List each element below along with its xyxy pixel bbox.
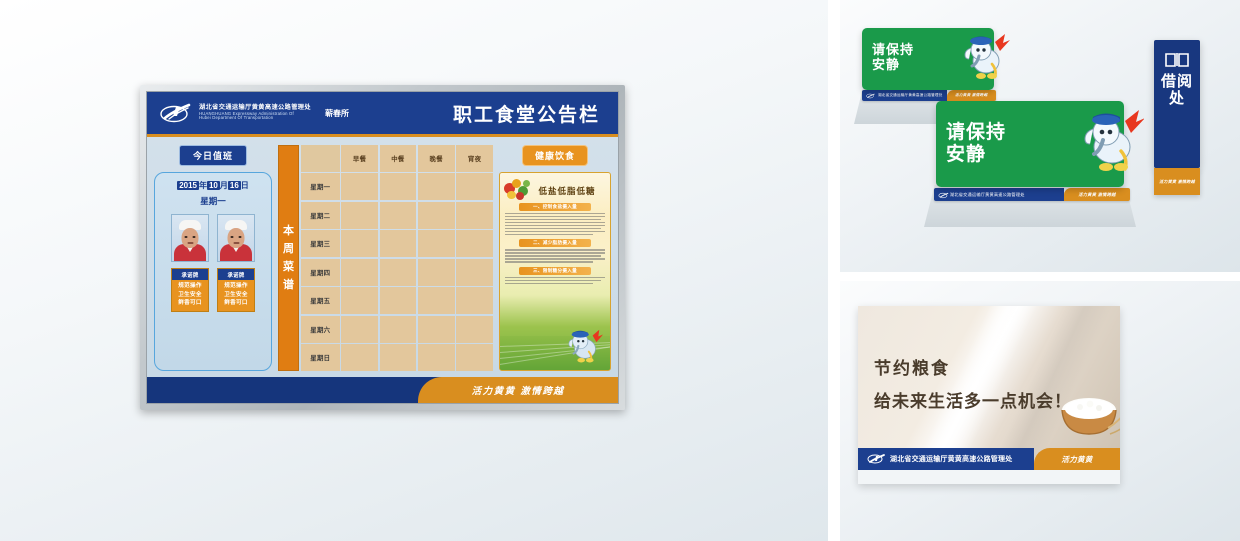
promise-cards: 承诺牌 规范操作 卫生安全 鲜香可口 承诺牌 (171, 268, 255, 312)
date-year-unit: 年 (199, 181, 207, 190)
section-heading-1: 一、控制食盐摄入量 (519, 203, 591, 211)
menu-cell[interactable] (341, 344, 378, 371)
poster-org-name: 湖北省交通运输厅黄黄高速公路管理处 (890, 454, 1012, 464)
table-corner-cell (301, 145, 340, 172)
section-heading-3: 三、限制糖分摄入量 (519, 267, 591, 275)
menu-cell[interactable] (341, 202, 378, 229)
duty-staff-photos (171, 214, 255, 262)
board-slogan: 活力黄黄 激情跨越 (472, 383, 565, 397)
poster-headline-line1: 节约粮食 (874, 354, 1072, 379)
expressway-logo-icon (159, 102, 193, 124)
expressway-logo-icon (938, 192, 947, 198)
healthy-eating-card: 低盐低脂低糖 一、控制食盐摄入量 二、减少脂肪摄入量 (499, 172, 611, 371)
date-day: 16 (228, 181, 241, 190)
borrow-desk-sign: 借阅处 (1154, 40, 1200, 168)
poster-panel: 节约粮食 给未来生活多一点机会！ 湖北省交通运输厅黄黄高速公路管理处 (840, 281, 1240, 541)
side-label-char: 本 (283, 226, 294, 237)
board-inner: 湖北省交通运输厅黄黄高速公路管理处 HUANGHUANG Expressway … (146, 91, 619, 404)
quiet-line-2: 安静 (872, 59, 914, 74)
row-header-friday: 星期五 (301, 287, 340, 314)
sign-base-bar-back: 湖北省交通运输厅黄黄高速公路管理处 活力黄黄 激情跨越 (862, 90, 996, 101)
board-title: 职工食堂公告栏 (453, 100, 606, 127)
notice-board-scene: 湖北省交通运输厅黄黄高速公路管理处 HUANGHUANG Expressway … (0, 0, 828, 541)
menu-cell[interactable] (380, 316, 417, 343)
side-label-char: 谱 (283, 280, 294, 291)
promise-card-title-1: 承诺牌 (172, 269, 208, 280)
open-book-icon (1165, 52, 1189, 67)
duty-date: 2015年10月16日 (177, 180, 249, 191)
menu-cell[interactable] (456, 259, 493, 286)
org-identity: 湖北省交通运输厅黄黄高速公路管理处 HUANGHUANG Expressway … (199, 105, 311, 120)
menu-cell[interactable] (418, 287, 455, 314)
menu-cell[interactable] (456, 344, 493, 371)
save-food-poster: 节约粮食 给未来生活多一点机会！ 湖北省交通运输厅黄黄高速公路管理处 (858, 306, 1120, 484)
menu-cell[interactable] (380, 202, 417, 229)
base-bar-org-name: 湖北省交通运输厅黄黄高速公路管理处 (950, 192, 1025, 198)
staff-photo-1 (171, 214, 209, 262)
menu-cell[interactable] (456, 230, 493, 257)
menu-cell[interactable] (341, 173, 378, 200)
promise-card-title-2: 承诺牌 (218, 269, 254, 280)
healthy-eating-column: 健康饮食 低盐低脂低糖 (499, 145, 611, 371)
poster-headline: 节约粮食 给未来生活多一点机会！ (874, 354, 1072, 412)
board-footer: 活力黄黄 激情跨越 (147, 377, 618, 403)
menu-cell[interactable] (418, 173, 455, 200)
promise-item: 规范操作 (218, 282, 254, 291)
menu-cell[interactable] (418, 344, 455, 371)
section-body-1 (505, 213, 605, 235)
poster-org-block: 湖北省交通运输厅黄黄高速公路管理处 (858, 448, 1034, 470)
menu-cell[interactable] (380, 173, 417, 200)
menu-cell[interactable] (456, 287, 493, 314)
section-body-3 (505, 277, 605, 284)
promise-item: 鲜香可口 (218, 299, 254, 308)
promise-item: 鲜香可口 (172, 299, 208, 308)
row-header-tuesday: 星期二 (301, 202, 340, 229)
branch-name: 蕲春所 (325, 108, 349, 119)
duty-card: 2015年10月16日 星期一 (154, 172, 272, 371)
elephant-mascot-icon (962, 30, 1010, 80)
promise-card-1: 承诺牌 规范操作 卫生安全 鲜香可口 (171, 268, 209, 312)
side-label-char: 周 (283, 244, 294, 255)
quiet-sign-front: 请保持 安静 (936, 101, 1124, 187)
menu-cell[interactable] (341, 230, 378, 257)
weekly-menu-table: 早餐 中餐 晚餐 宵夜 星期一 星期二 (299, 145, 493, 371)
healthy-eating-title: 低盐低脂低糖 (530, 185, 604, 197)
menu-cell[interactable] (380, 287, 417, 314)
menu-cell[interactable] (341, 287, 378, 314)
promise-item: 规范操作 (172, 282, 208, 291)
date-year: 2015 (177, 181, 199, 190)
menu-cell[interactable] (341, 259, 378, 286)
menu-cell[interactable] (418, 259, 455, 286)
borrow-desk-slogan: 活力黄黄 激情跨越 (1159, 179, 1195, 185)
base-bar-slogan: 活力黄黄 激情跨越 (1078, 192, 1115, 198)
quiet-line-2: 安静 (946, 144, 1006, 166)
column-header-lunch: 中餐 (380, 145, 417, 172)
elephant-mascot-icon (566, 326, 604, 364)
poster-headline-line2: 给未来生活多一点机会！ (874, 387, 1072, 412)
weekly-menu-column: 本 周 菜 谱 早餐 中餐 晚餐 宵夜 星期一 (278, 145, 493, 371)
date-day-unit: 日 (241, 181, 249, 190)
row-header-thursday: 星期四 (301, 259, 340, 286)
expressway-logo-icon (867, 453, 885, 465)
menu-cell[interactable] (418, 230, 455, 257)
expressway-logo-icon (866, 93, 875, 99)
date-month: 10 (207, 181, 220, 190)
row-header-monday: 星期一 (301, 173, 340, 200)
board-header: 湖北省交通运输厅黄黄高速公路管理处 HUANGHUANG Expressway … (147, 92, 618, 137)
duty-heading: 今日值班 (179, 145, 247, 166)
healthy-eating-heading: 健康饮食 (522, 145, 588, 166)
promise-item: 卫生安全 (172, 291, 208, 300)
promise-item: 卫生安全 (218, 291, 254, 300)
side-label-char: 菜 (283, 262, 294, 273)
row-header-wednesday: 星期三 (301, 230, 340, 257)
org-name-en-line2: Hubei Department Of Transportation (199, 116, 311, 120)
base-bar-slogan-block: 活力黄黄 激情跨越 (1064, 188, 1130, 201)
quiet-sign-front-text: 请保持 安静 (936, 122, 1006, 166)
menu-cell[interactable] (380, 344, 417, 371)
base-bar-org-name: 湖北省交通运输厅黄黄高速公路管理处 (878, 93, 943, 98)
base-bar-org-block: 湖北省交通运输厅黄黄高速公路管理处 (934, 188, 1064, 201)
section-body-2 (505, 249, 605, 262)
footer-slogan-banner: 活力黄黄 激情跨越 (418, 377, 618, 403)
menu-cell[interactable] (456, 316, 493, 343)
promise-card-2: 承诺牌 规范操作 卫生安全 鲜香可口 (217, 268, 255, 312)
signs-panel: 湖北省交通运输厅黄黄高速公路管理处 活力黄黄 激情跨越 请保持 安静 (840, 0, 1240, 272)
base-bar-slogan: 活力黄黄 激情跨越 (955, 93, 987, 98)
poster-bottom-strip (858, 470, 1120, 484)
staff-photo-2 (217, 214, 255, 262)
menu-cell[interactable] (456, 202, 493, 229)
menu-cell[interactable] (341, 316, 378, 343)
healthy-eating-sections: 一、控制食盐摄入量 二、减少脂肪摄入量 (500, 197, 610, 288)
elephant-mascot-icon (1080, 105, 1144, 173)
borrow-desk-text: 借阅处 (1154, 73, 1200, 107)
menu-cell[interactable] (418, 202, 455, 229)
right-column: 湖北省交通运输厅黄黄高速公路管理处 活力黄黄 激情跨越 请保持 安静 (828, 0, 1240, 541)
borrow-desk-base: 活力黄黄 激情跨越 (1154, 168, 1200, 195)
menu-cell[interactable] (456, 173, 493, 200)
menu-cell[interactable] (380, 230, 417, 257)
poster-footer-bar: 湖北省交通运输厅黄黄高速公路管理处 活力黄黄 (858, 448, 1120, 470)
duty-weekday: 星期一 (200, 195, 226, 207)
weekly-menu-side-label: 本 周 菜 谱 (278, 145, 299, 371)
duty-column: 今日值班 2015年10月16日 星期一 (154, 145, 272, 371)
menu-cell[interactable] (418, 316, 455, 343)
sign-base-bar-front: 湖北省交通运输厅黄黄高速公路管理处 活力黄黄 激情跨越 (934, 188, 1130, 201)
screenshot-stage: 湖北省交通运输厅黄黄高速公路管理处 HUANGHUANG Expressway … (0, 0, 1240, 541)
menu-cell[interactable] (380, 259, 417, 286)
base-bar-org-block: 湖北省交通运输厅黄黄高速公路管理处 (862, 90, 947, 101)
quiet-sign-back: 请保持 安静 (862, 28, 994, 90)
row-header-sunday: 星期日 (301, 344, 340, 371)
date-month-unit: 月 (220, 181, 228, 190)
section-heading-2: 二、减少脂肪摄入量 (519, 239, 591, 247)
board-body: 今日值班 2015年10月16日 星期一 (147, 137, 618, 377)
board-frame: 湖北省交通运输厅黄黄高速公路管理处 HUANGHUANG Expressway … (140, 85, 625, 410)
column-header-breakfast: 早餐 (341, 145, 378, 172)
column-header-supper: 宵夜 (456, 145, 493, 172)
poster-slogan-block: 活力黄黄 (1034, 448, 1120, 470)
quiet-line-1: 请保持 (946, 122, 1006, 144)
quiet-line-1: 请保持 (872, 44, 914, 59)
poster-slogan: 活力黄黄 (1061, 454, 1092, 465)
base-bar-slogan-block: 活力黄黄 激情跨越 (947, 90, 997, 101)
row-header-saturday: 星期六 (301, 316, 340, 343)
quiet-sign-back-text: 请保持 安静 (862, 44, 914, 74)
column-header-dinner: 晚餐 (418, 145, 455, 172)
